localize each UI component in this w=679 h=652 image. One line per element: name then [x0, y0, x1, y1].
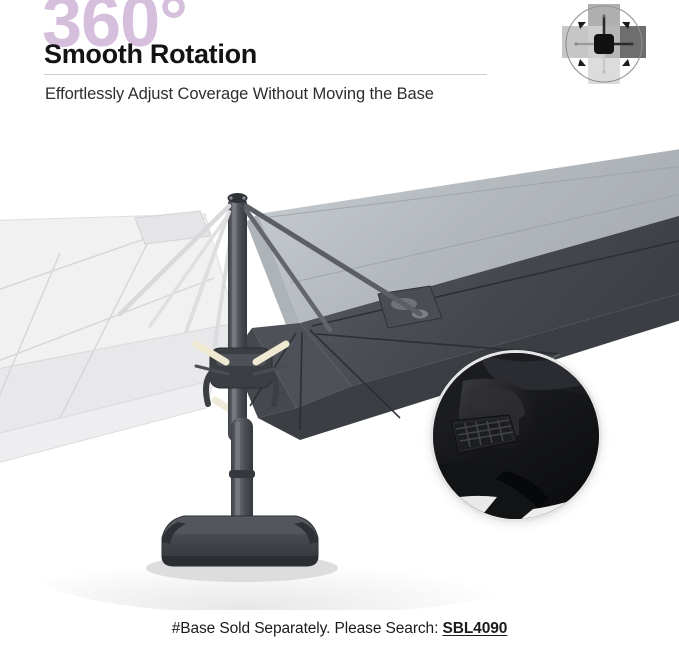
- rotation-diagram-svg: [548, 2, 660, 86]
- page-subtitle: Effortlessly Adjust Coverage Without Mov…: [45, 85, 434, 104]
- title-divider: [44, 74, 487, 75]
- rotation-diagram-icon: [548, 2, 660, 86]
- footer-note: #Base Sold Separately. Please Search: SB…: [0, 620, 679, 638]
- header-block: 360° Smooth Rotation Effortlessly Adjust…: [0, 0, 679, 120]
- ghost-umbrella: [0, 211, 243, 478]
- umbrella-svg: [0, 118, 679, 610]
- footer-note-text: #Base Sold Separately. Please Search:: [172, 620, 443, 637]
- product-code: SBL4090: [442, 620, 507, 637]
- cantilever-umbrella-illustration: [0, 118, 679, 610]
- page-title: Smooth Rotation: [44, 39, 257, 70]
- foot-pedal-detail: [430, 350, 602, 522]
- umbrella-base: [146, 516, 338, 582]
- foot-pedal-svg: [433, 353, 599, 519]
- product-feature-image: 360° Smooth Rotation Effortlessly Adjust…: [0, 0, 679, 652]
